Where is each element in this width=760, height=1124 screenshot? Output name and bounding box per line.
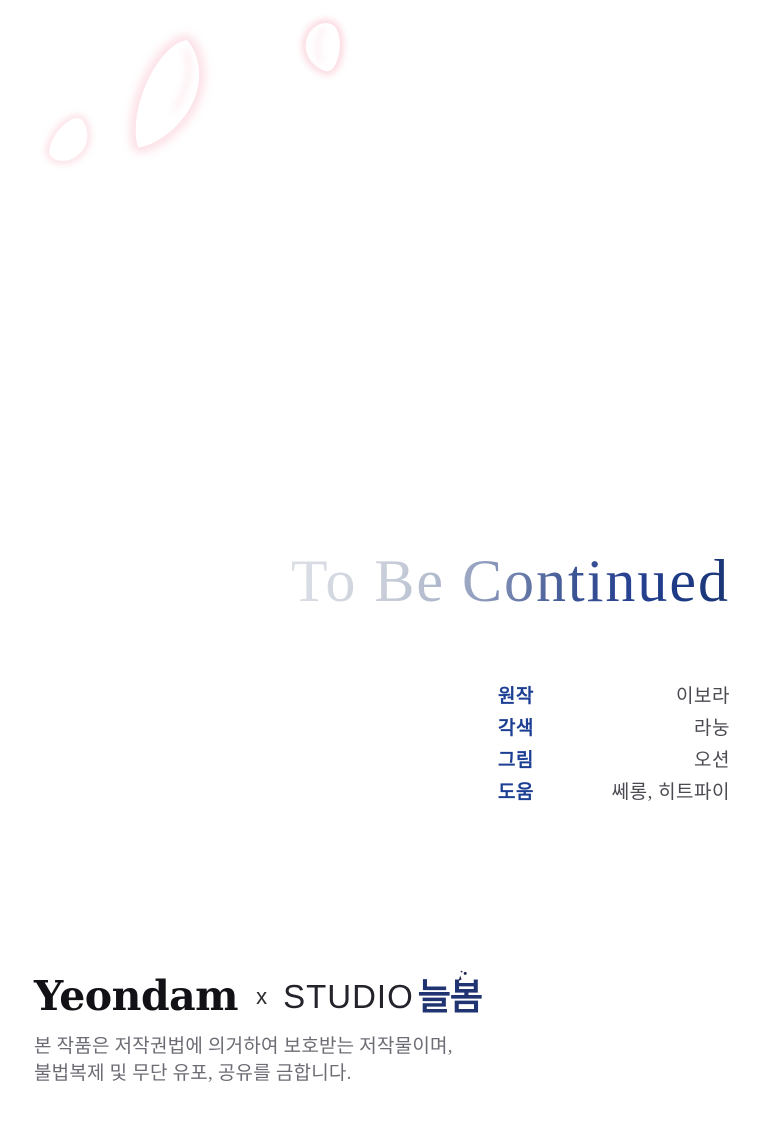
credit-row: 도움 쎄롱, 히트파이 bbox=[498, 777, 730, 809]
petal-small-left bbox=[48, 114, 90, 164]
credit-label-art: 그림 bbox=[498, 745, 534, 772]
studio-neulbom-logo: STUDIO 늘봄 bbox=[283, 979, 482, 1015]
webtoon-ending-page: To Be Continued 원작 이보라 각색 라눙 그림 오션 도움 쎄롱… bbox=[0, 0, 760, 1124]
credit-row: 그림 오션 bbox=[498, 745, 730, 777]
studio-wordmark: STUDIO bbox=[283, 980, 414, 1013]
credit-row: 원작 이보라 bbox=[498, 681, 730, 713]
credit-value-adaptation: 라눙 bbox=[694, 713, 730, 740]
credits-list: 원작 이보라 각색 라눙 그림 오션 도움 쎄롱, 히트파이 bbox=[498, 681, 730, 809]
credit-label-original: 원작 bbox=[498, 681, 534, 708]
footer: Yeondam x STUDIO 늘봄 본 작품은 저작권법에 의거하여 보호받… bbox=[34, 973, 734, 1088]
logo-row: Yeondam x STUDIO 늘봄 bbox=[34, 973, 734, 1021]
logo-separator: x bbox=[256, 986, 267, 1008]
falling-petals bbox=[0, 0, 460, 210]
credit-value-assist: 쎄롱, 히트파이 bbox=[612, 777, 730, 804]
petal-small-right bbox=[297, 18, 354, 77]
credit-row: 각색 라눙 bbox=[498, 713, 730, 745]
copyright-line-1: 본 작품은 저작권법에 의거하여 보호받는 저작물이며, bbox=[34, 1033, 734, 1061]
neulbom-wordmark: 늘봄 bbox=[418, 979, 482, 1015]
to-be-continued-text: To Be Continued bbox=[291, 548, 730, 614]
credit-label-adaptation: 각색 bbox=[498, 713, 534, 740]
credit-label-assist: 도움 bbox=[498, 777, 534, 804]
credit-value-original: 이보라 bbox=[676, 681, 730, 708]
petal-large bbox=[113, 39, 216, 148]
sparkle-icon bbox=[452, 970, 470, 986]
credit-value-art: 오션 bbox=[694, 745, 730, 772]
to-be-continued-block: To Be Continued bbox=[0, 548, 760, 614]
yeondam-logo: Yeondam bbox=[34, 976, 238, 1017]
copyright-notice: 본 작품은 저작권법에 의거하여 보호받는 저작물이며, 불법복제 및 무단 유… bbox=[34, 1033, 734, 1088]
copyright-line-2: 불법복제 및 무단 유포, 공유를 금합니다. bbox=[34, 1060, 734, 1088]
